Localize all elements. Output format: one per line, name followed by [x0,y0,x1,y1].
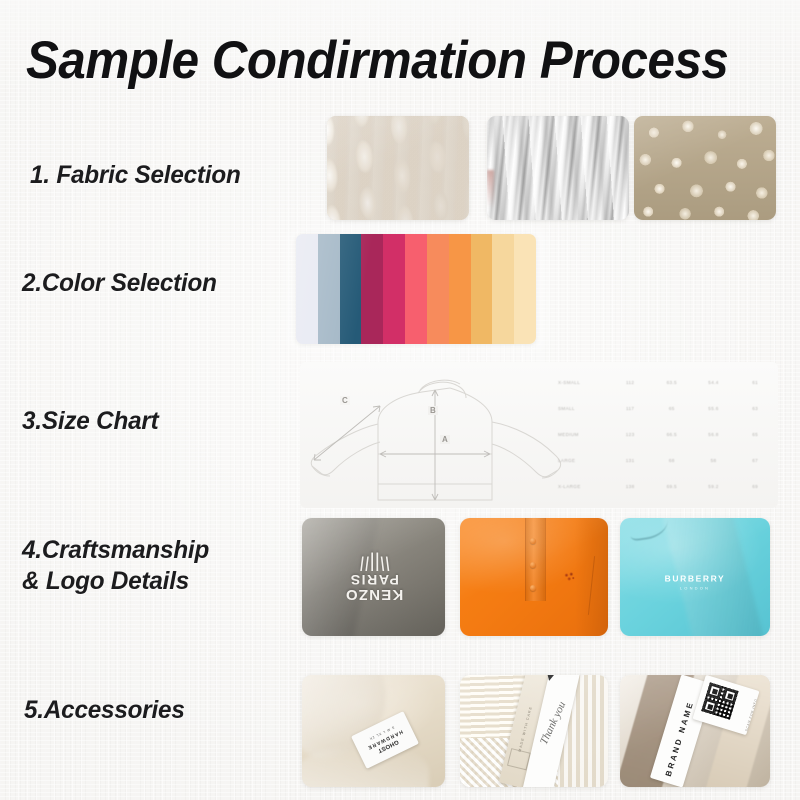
size-cell: LARGE [552,458,609,463]
kenzo-rays-icon: \\||// [344,553,403,576]
knit-braid-texture [327,116,469,220]
fabric-swatch-boucle [634,116,776,220]
color-swatch-raspberry-pink [383,234,405,344]
color-swatch-pale-lavender [296,234,318,344]
size-cell: 67 [734,458,776,463]
qr-code-icon [701,682,738,719]
fabric-swatch-wavy-rib [487,116,629,220]
size-chart-panel: B A C X-SMALL 112 63.5 54.4 61 SMALL 117… [300,362,778,508]
garment-collar [627,518,670,541]
size-cell: 117 [609,406,651,411]
qr-finder-icon [702,699,717,714]
measure-code-C: C [342,396,348,405]
step-label-craftsmanship: 4.Craftsmanship & Logo Details [22,535,209,597]
craft-photo-aqua-logo: BURBERRY LONDON [620,518,770,636]
step-label-accessories: 5.Accessories [24,695,185,726]
size-cell: X-LARGE [552,484,609,489]
size-cell: 63.5 [651,380,693,385]
color-swatch-pale-cream [514,234,536,344]
brand-logo-line2: LONDON [665,585,726,590]
accessory-photo-hang-tags: MADE WITH CARE Thank you [460,675,608,787]
kenzo-logo-line2: PARIS [349,572,399,588]
color-swatch-tangerine [449,234,471,344]
size-cell: 56.8 [693,432,735,437]
step-label-size-chart: 3.Size Chart [22,406,158,437]
kenzo-logo-print: KENZO PARIS \\||// [344,556,403,602]
step-label-color-selection: 2.Color Selection [22,268,217,299]
size-table: X-SMALL 112 63.5 54.4 61 SMALL 117 65 55… [552,368,776,504]
infographic-page: Sample Condirmation Process 1. Fabric Se… [0,0,800,800]
size-cell: 112 [609,380,651,385]
accessory-photo-brand-qr-tag: BRAND NAME SCAN FOR INFO [620,675,770,787]
step-label-craftsmanship-line1: 4.Craftsmanship [22,535,209,566]
color-swatch-dusty-blue [318,234,340,344]
color-swatch-salmon-orange [427,234,449,344]
accessory-photo-care-label: GHOST HARDWARE S M L XL 2X [302,675,445,787]
size-cell: 138 [609,484,651,489]
size-cell: 54.4 [693,380,735,385]
care-label-text: GHOST HARDWARE S M L XL 2X [364,723,407,757]
size-cell: 66.5 [651,432,693,437]
page-title: Sample Condirmation Process [26,32,733,90]
color-palette [296,234,536,344]
size-cell: 123 [609,432,651,437]
step-label-craftsmanship-line2: & Logo Details [22,566,209,597]
size-cell: SMALL [552,406,609,411]
size-cell: 65 [734,432,776,437]
printed-brand-logo: BURBERRY LONDON [665,573,726,590]
polo-button [530,562,536,568]
size-cell: 65 [651,406,693,411]
hang-tag-side-text: MADE WITH CARE [518,706,533,753]
brand-logo-line1: BURBERRY [665,573,726,583]
size-cell: 68 [651,458,693,463]
size-cell: 55.6 [693,406,735,411]
size-cell: 69 [734,484,776,489]
craft-photo-orange-polo [460,518,608,636]
polo-shadow [575,518,608,636]
size-cell: 69.5 [651,484,693,489]
size-cell: X-SMALL [552,380,609,385]
fabric-swatch-chunky-knit [327,116,469,220]
craft-photo-kenzo-print: KENZO PARIS \\||// [302,518,445,636]
qr-finder-icon [707,683,722,698]
wavy-highlight [487,116,629,220]
size-cell: 59.2 [693,484,735,489]
kenzo-logo-line1: KENZO [344,586,403,603]
color-swatch-light-apricot [492,234,514,344]
measure-code-A: A [442,435,448,444]
qr-finder-icon [722,688,737,703]
size-cell: 63 [734,406,776,411]
step-label-fabric-selection: 1. Fabric Selection [30,160,241,191]
color-swatch-golden-amber [471,234,493,344]
size-cell: 131 [609,458,651,463]
size-cell: MEDIUM [552,432,609,437]
hang-tag-signature: Thank you [538,699,568,746]
size-cell: 61 [734,380,776,385]
measure-code-B: B [430,406,436,415]
wavy-red-edge [487,170,494,207]
color-swatch-coral-red [405,234,427,344]
size-cell: 58 [693,458,735,463]
color-swatch-deep-teal-blue [340,234,362,344]
color-swatch-berry-magenta [361,234,383,344]
